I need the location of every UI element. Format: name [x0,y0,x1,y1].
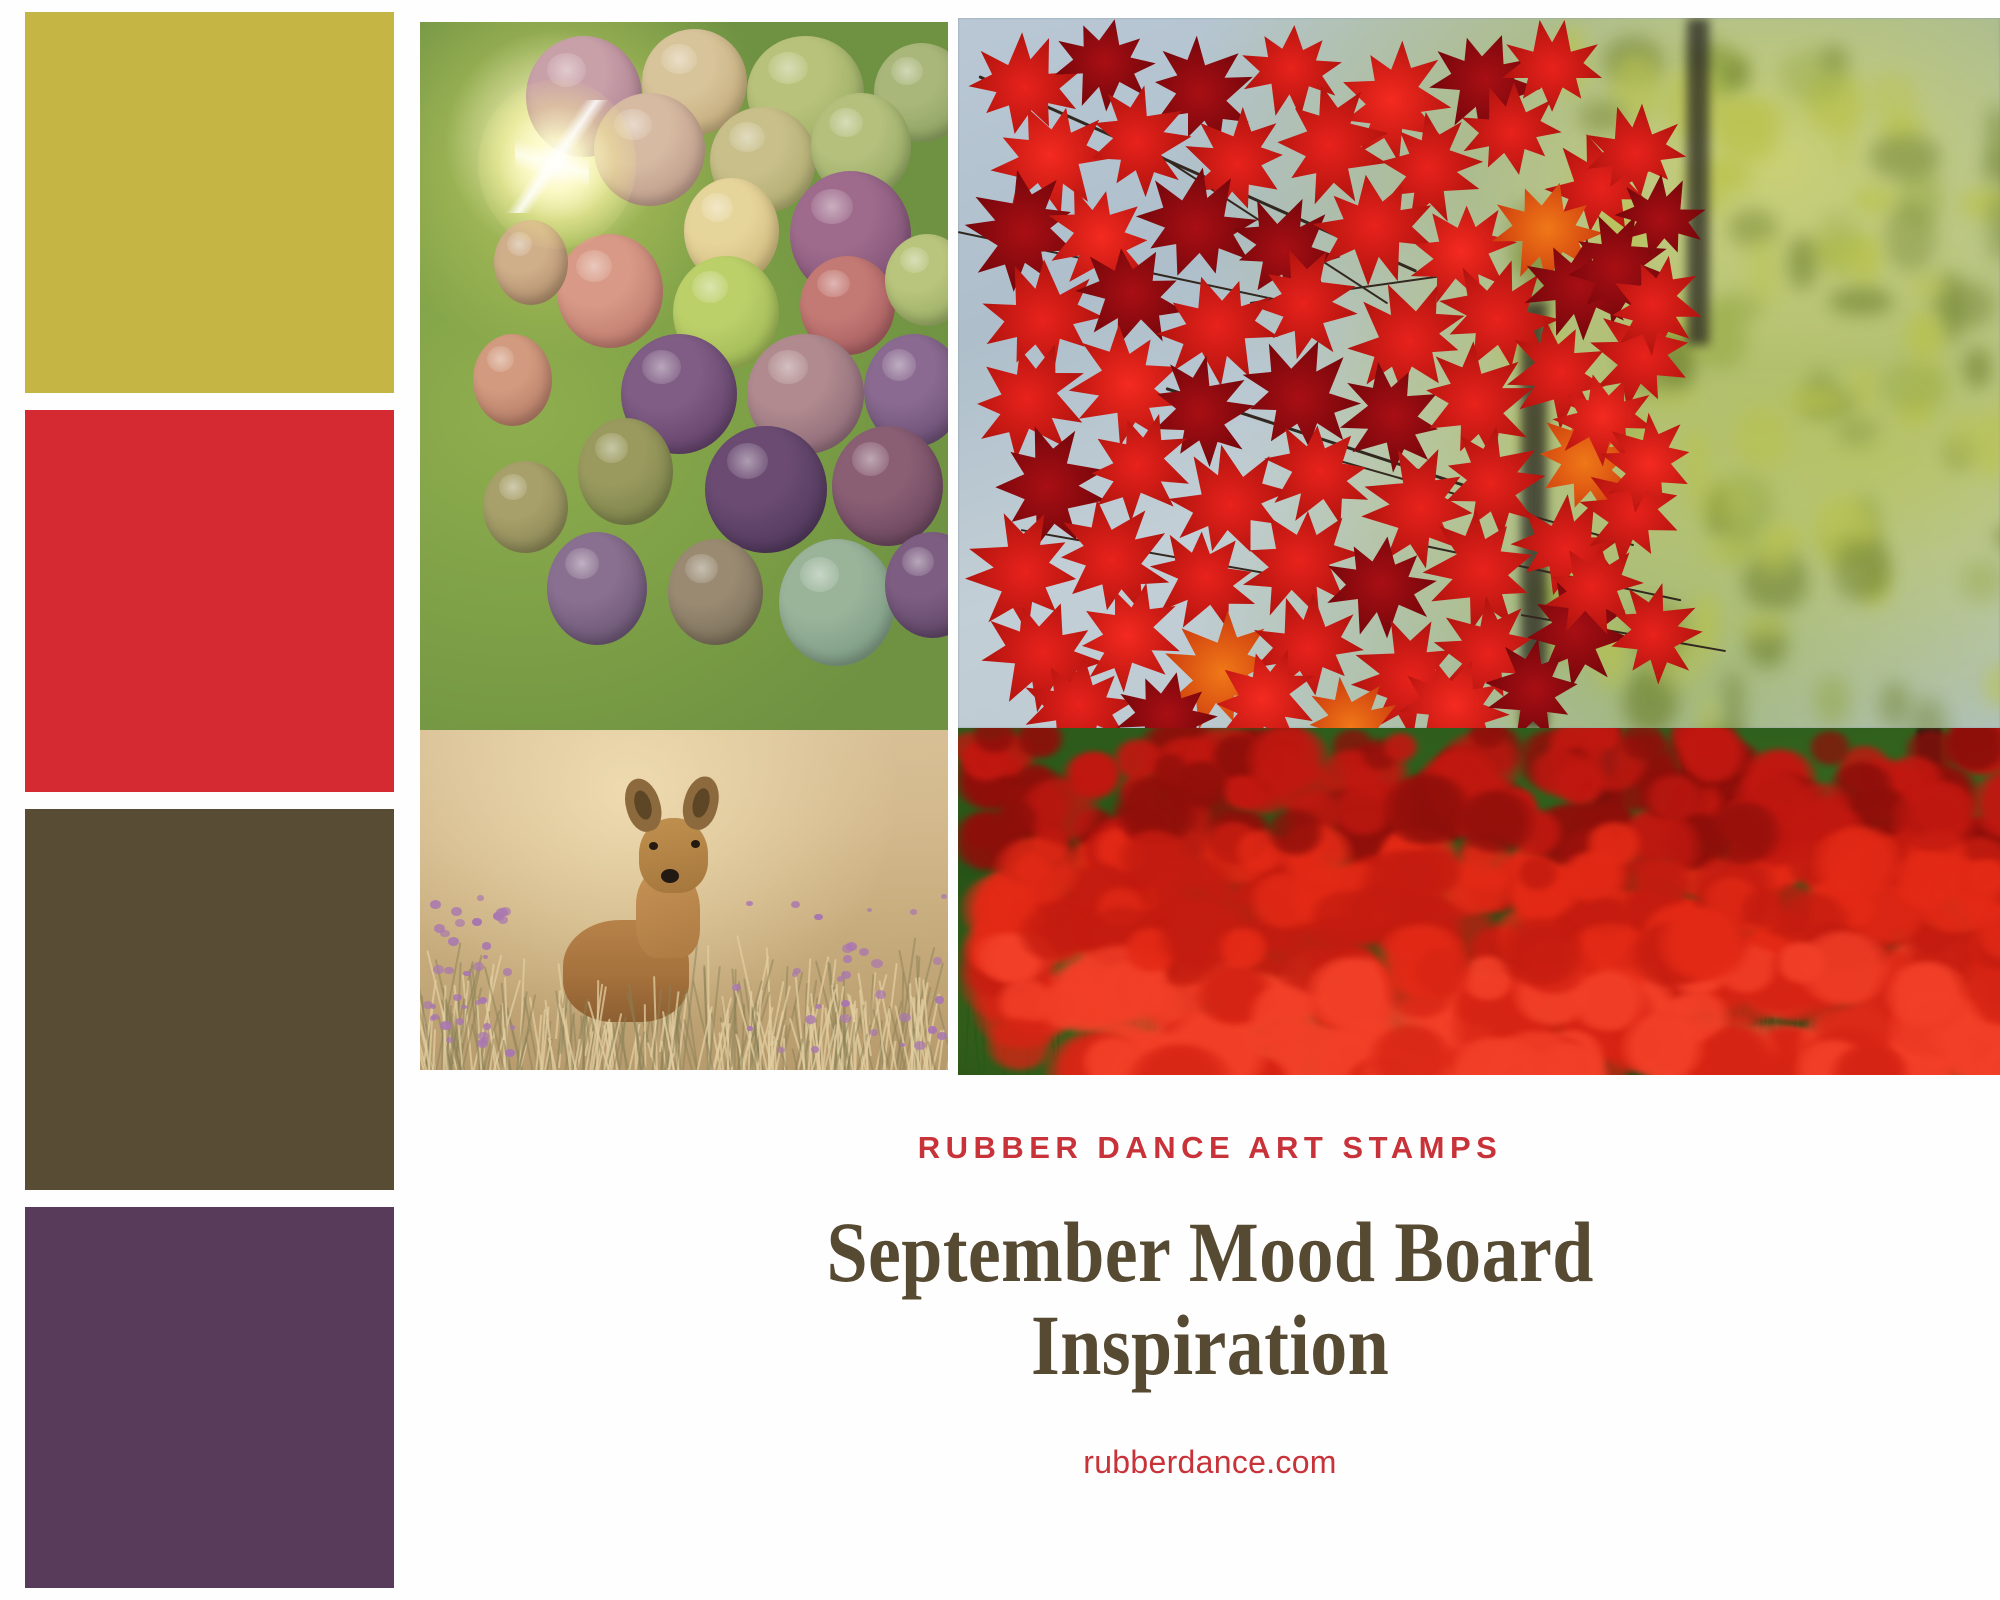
spider-lily-bloom [1808,731,1852,765]
grape [779,539,895,666]
bokeh-foliage [1837,417,1877,448]
spider-lily-bloom [1412,949,1474,996]
spider-lily-bloom [1696,1029,1769,1075]
bokeh-foliage [1722,671,1743,728]
thistle-flower [814,914,822,921]
bokeh-foliage [1909,273,1948,302]
spider-lily-bloom [1656,907,1752,980]
bokeh-foliage [1693,594,1719,653]
bokeh-foliage [1829,288,1893,315]
bokeh-foliage [1724,59,1748,86]
spider-lily-bloom [1739,890,1789,928]
thistle-flower [483,1023,491,1030]
bokeh-foliage [1788,388,1845,414]
bokeh-foliage [1837,245,1881,275]
spider-lily-bloom [1631,860,1693,907]
thistle-flower [446,1037,454,1043]
bokeh-foliage [1755,529,1794,574]
swatch-dark-olive-brown [25,809,394,1190]
bokeh-foliage [1685,427,1708,496]
thistle-flower [935,996,945,1004]
brand-tagline: RUBBER DANCE ART STAMPS [918,1130,1503,1166]
bokeh-foliage [1881,361,1949,411]
page-title-line-2: Inspiration [826,1299,1593,1392]
grape [832,426,943,546]
photo-red-maple-leaves [958,18,2000,728]
thistle-flower [482,942,491,949]
bokeh-foliage [1948,412,1977,467]
thistle-flower [747,1026,753,1030]
grape [473,334,552,426]
thistle-flower [792,972,798,976]
bokeh-foliage [1870,135,1941,178]
bokeh-foliage [1714,101,1777,161]
grape [547,532,647,645]
thistle-flower [456,1018,464,1025]
thistle-flower [928,1026,938,1034]
bokeh-foliage [1698,694,1720,728]
spider-lily-bloom [997,802,1039,834]
thistle-flower [777,1047,785,1053]
thistle-flower [477,895,484,900]
thistle-flower [475,1000,481,1005]
spider-lily-bloom [1811,826,1903,897]
spider-lily-bloom [1389,851,1437,888]
thistle-flower [842,944,853,953]
photo-red-spider-lily-field [958,728,2000,1075]
thistle-flower [448,937,459,946]
bokeh-foliage [1831,102,1857,170]
bokeh-foliage [1788,236,1817,289]
thistle-flower [423,1001,433,1009]
thistle-flower [870,1029,879,1036]
spider-lily-bloom [1455,790,1537,853]
bokeh-foliage [1821,45,1848,73]
spider-lily-bloom [1308,891,1382,948]
spider-lily-bloom [1585,822,1642,866]
mood-board: RUBBER DANCE ART STAMPS September Mood B… [0,0,2000,1600]
swatch-olive-yellow [25,12,394,393]
bokeh-foliage [1741,615,1788,638]
page-title-line-1: September Mood Board [826,1206,1593,1299]
thistle-flower [732,984,741,991]
thistle-flower [463,971,470,977]
swatch-deep-plum-purple [25,1207,394,1588]
grape [668,539,763,645]
spider-lily-bloom [1266,809,1325,854]
thistle-flower [510,1025,515,1029]
spider-lily-bloom [1017,907,1087,961]
bokeh-foliage [1710,293,1763,321]
thistle-flower [498,916,508,924]
grape [705,426,826,553]
bokeh-foliage [1853,185,1897,215]
thistle-flower [453,994,462,1001]
color-palette [25,12,394,1588]
spider-lily-bloom [1796,931,1891,1004]
spider-lily-bloom [985,1018,1054,1071]
bokeh-foliage [1909,698,1947,728]
bokeh-foliage [1704,159,1748,182]
grass-blade [727,1009,729,1070]
bokeh-foliage [1906,311,1944,359]
grape [483,461,567,553]
spider-lily-bloom [1035,984,1092,1028]
thistle-flower [472,918,482,926]
spider-lily-bloom [1620,1014,1706,1075]
thistle-flower [933,957,942,965]
thistle-flower [937,1032,947,1040]
thistle-flower [503,968,512,976]
grape [578,418,673,524]
bokeh-foliage [1885,203,1936,271]
thistle-flower [444,967,454,975]
thistle-flower [431,1014,438,1020]
photo-grapes-in-sunlight [420,22,948,730]
spider-lily-bloom [1701,801,1784,864]
thistle-flower [811,1046,819,1053]
bokeh-foliage [1964,348,1991,387]
bokeh-foliage [1700,536,1756,565]
spider-lily-bloom [1644,775,1703,820]
spider-lily-bloom [1890,785,1979,853]
bokeh-foliage [1984,664,2000,708]
spider-lily-bloom [1965,859,2000,894]
thistle-flower [473,962,483,970]
bokeh-foliage [1815,676,1850,727]
spider-lily-bloom [1891,852,1965,908]
bokeh-foliage [1735,407,1787,467]
bokeh-foliage [1960,560,2000,602]
text-block: RUBBER DANCE ART STAMPS September Mood B… [420,1090,2000,1600]
spider-lily-bloom [1516,857,1559,890]
photo-roe-deer-in-meadow [420,730,948,1070]
thistle-flower [910,909,917,914]
thistle-flower [434,924,445,933]
spider-lily-bloom [992,837,1081,905]
spider-lily-bloom [1788,783,1854,833]
bokeh-foliage [1940,283,1994,327]
thistle-flower [746,901,752,906]
swatch-crimson-red [25,410,394,791]
thistle-flower [430,900,441,909]
thistle-flower [481,1037,489,1043]
thistle-flower [455,919,465,927]
page-title: September Mood Board Inspiration [826,1206,1593,1392]
spider-lily-bloom [1117,830,1191,887]
spider-lily-bloom [1218,928,1269,967]
website-url: rubberdance.com [1083,1444,1337,1481]
spider-lily-bloom [1248,986,1319,1041]
bokeh-foliage [1834,543,1888,601]
bokeh-foliage [1995,526,2000,550]
spider-lily-bloom [1382,733,1419,762]
bokeh-foliage [1880,682,1910,727]
